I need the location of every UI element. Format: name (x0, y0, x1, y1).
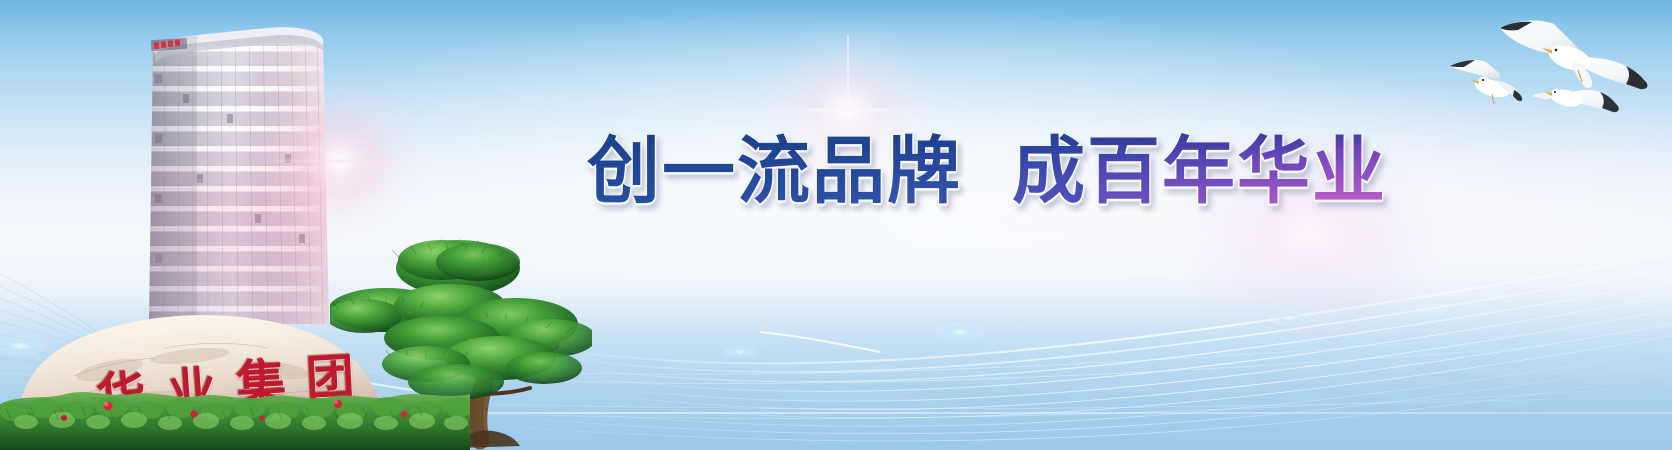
slogan-char-7: 百 (1086, 126, 1161, 218)
slogan-char-4: 品 (811, 126, 886, 218)
slogan-char-6: 成 (1011, 126, 1086, 218)
seagull-large (1500, 21, 1647, 90)
seagull-small (1450, 60, 1522, 104)
slogan-char-3: 流 (736, 126, 811, 218)
office-tower (139, 22, 335, 332)
flowering-hedge (0, 388, 470, 450)
hero-banner: 华 业 集 团 (0, 0, 1672, 450)
seagull-lower (1532, 86, 1619, 112)
slogan-char-8: 年 (1161, 126, 1236, 218)
slogan-char-2: 一 (661, 126, 736, 218)
slogan-char-9: 华 (1236, 126, 1311, 218)
seagull-group (1422, 0, 1672, 130)
slogan-text: 创 一 流 品 牌 成 百 年 华 业 (586, 126, 1386, 218)
slogan-char-5: 牌 (886, 126, 961, 218)
slogan-char-1: 创 (586, 126, 661, 218)
slogan-char-10: 业 (1311, 126, 1386, 218)
